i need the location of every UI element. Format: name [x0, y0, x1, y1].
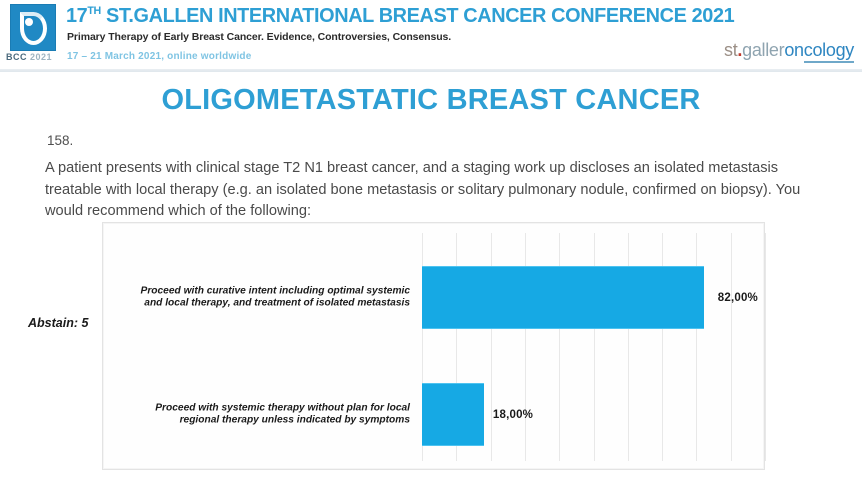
chart-bar[interactable]	[422, 266, 704, 329]
chart-bar-category-line: regional therapy unless indicated by sym…	[110, 415, 410, 428]
swirl-dot-shape	[25, 18, 33, 26]
bcc-logo-year: 2021	[30, 52, 52, 62]
sponsor-logo-part-st: st	[724, 40, 737, 60]
chart-bar-category-label: Proceed with curative intent including o…	[110, 285, 410, 310]
conference-subtitle: Primary Therapy of Early Breast Cancer. …	[67, 31, 451, 43]
chart-bar-category-line: Proceed with systemic therapy without pl…	[110, 402, 410, 415]
bcc-logo-acronym: BCC	[6, 52, 27, 62]
conference-title-ordinal: 17	[66, 4, 87, 27]
abstain-count-label: Abstain: 5	[28, 316, 88, 330]
st-gallen-oncology-logo: st.galleroncology	[724, 40, 854, 61]
sponsor-logo-part-on: on	[784, 40, 803, 60]
bcc-conference-logo: BCC 2021	[6, 4, 62, 68]
chart-plot-area: 82,00%Proceed with curative intent inclu…	[422, 233, 766, 461]
conference-title-main: ST.GALLEN INTERNATIONAL BREAST CANCER CO…	[101, 4, 734, 27]
chart-bar-category-label: Proceed with systemic therapy without pl…	[110, 402, 410, 427]
conference-title-ordinal-suffix: TH	[87, 5, 100, 17]
chart-bar-value-label: 18,00%	[493, 409, 533, 421]
chart-bar-category-line: Proceed with curative intent including o…	[110, 285, 410, 298]
sponsor-logo-part-gallen: galler	[742, 40, 784, 60]
slide-title: OLIGOMETASTATIC BREAST CANCER	[0, 84, 862, 117]
results-bar-chart: 82,00%Proceed with curative intent inclu…	[102, 222, 765, 470]
bcc-logo-caption: BCC 2021	[6, 52, 66, 62]
conference-title: 17TH ST.GALLEN INTERNATIONAL BREAST CANC…	[66, 4, 734, 28]
swirl-outer-shape	[20, 12, 47, 45]
chart-bar-row: 82,00%Proceed with curative intent inclu…	[422, 266, 766, 329]
conference-header-banner: BCC 2021 17TH ST.GALLEN INTERNATIONAL BR…	[0, 0, 862, 72]
chart-bar[interactable]	[422, 383, 484, 446]
question-text: A patient presents with clinical stage T…	[45, 158, 835, 223]
sponsor-logo-part-cology: cology	[804, 40, 854, 63]
chart-bar-value-label: 82,00%	[718, 292, 758, 304]
question-number: 158.	[47, 133, 73, 148]
breast-swirl-icon	[10, 4, 56, 51]
chart-bar-row: 18,00%Proceed with systemic therapy with…	[422, 383, 766, 446]
conference-dates: 17 – 21 March 2021, online worldwide	[67, 51, 252, 62]
chart-bar-category-line: and local therapy, and treatment of isol…	[110, 298, 410, 311]
